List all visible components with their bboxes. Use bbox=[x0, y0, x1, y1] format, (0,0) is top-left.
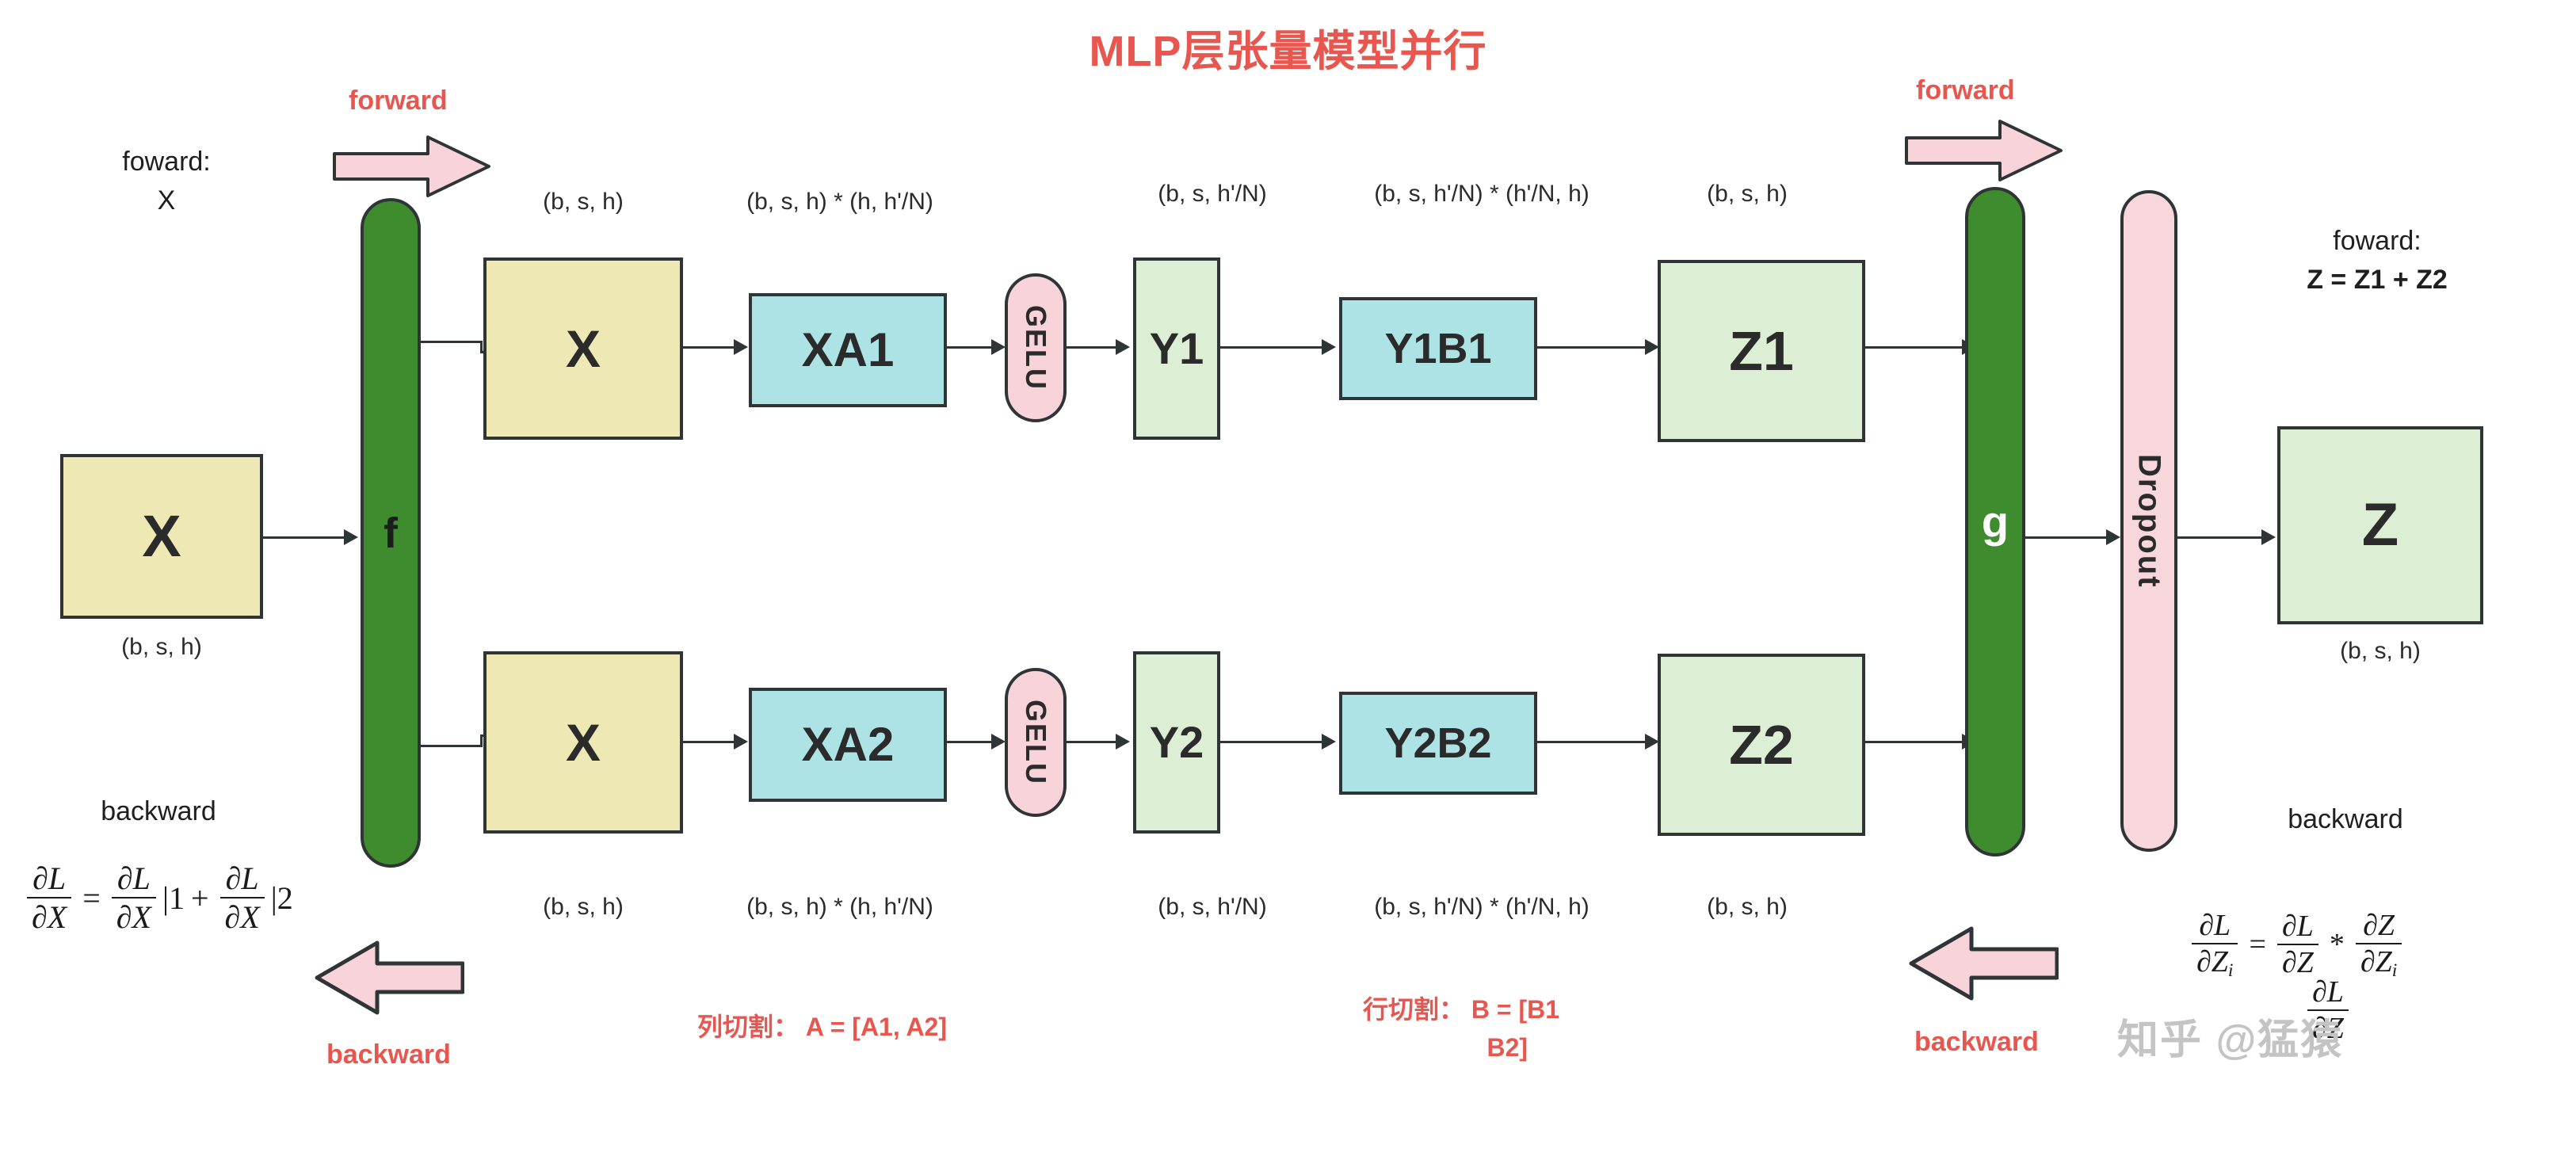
connector-topx-to-xa1 bbox=[683, 346, 737, 349]
f-column: f bbox=[361, 198, 421, 868]
bw-right-extra-num: ∂L bbox=[2307, 975, 2349, 1009]
bw-left-t2-den: ∂X bbox=[220, 897, 265, 936]
connector-y1-to-y1b1 bbox=[1220, 346, 1325, 349]
bw-right-star: * bbox=[2330, 927, 2345, 962]
connector-x-to-f bbox=[263, 536, 345, 539]
forward-note-left-line1: foward: bbox=[79, 143, 254, 181]
top-yb-box: Y1B1 bbox=[1339, 297, 1537, 400]
dim-label-bottom-0: (b, s, h) bbox=[480, 894, 686, 921]
input-x-box: X bbox=[60, 454, 263, 619]
bw-left-t1: ∂L ∂X bbox=[112, 860, 156, 936]
bottom-yb-box: Y2B2 bbox=[1339, 692, 1537, 795]
bw-left-eq: = bbox=[82, 879, 101, 917]
top-x-box: X bbox=[483, 258, 683, 440]
bw-right-t2-den-sub: i bbox=[2392, 960, 2398, 981]
backward-label-right: backward bbox=[2227, 800, 2464, 839]
bw-right-t2-den: ∂Zi bbox=[2356, 943, 2402, 982]
dim-label-top-3: (b, s, h'/N) * (h'/N, h) bbox=[1315, 181, 1648, 208]
bw-left-t1-num: ∂L bbox=[113, 860, 155, 897]
forward-note-left: foward: X bbox=[79, 143, 254, 221]
backward-formula-right: ∂L ∂Zi = ∂L ∂Z * ∂Z ∂Zi bbox=[2187, 908, 2406, 982]
bw-left-lhs-den: ∂X bbox=[27, 897, 71, 936]
bw-left-t1-den: ∂X bbox=[112, 897, 156, 936]
bw-left-t1-bar: |1 bbox=[162, 879, 185, 917]
connector-g-to-dropout-head bbox=[2106, 529, 2120, 545]
forward-note-left-line2: X bbox=[79, 181, 254, 220]
connector-y1-to-y1b1-head bbox=[1322, 339, 1336, 355]
forward-note-right-line2: Z = Z1 + Z2 bbox=[2219, 261, 2536, 299]
top-xa-box: XA1 bbox=[749, 293, 947, 407]
bw-right-lhs: ∂L ∂Zi bbox=[2192, 908, 2238, 982]
bottom-gelu-pill: GELU bbox=[1005, 668, 1067, 817]
top-gelu-pill: GELU bbox=[1005, 273, 1067, 422]
connector-gelu-to-y1 bbox=[1067, 346, 1119, 349]
connector-f-to-top-x bbox=[421, 341, 483, 343]
bw-right-lhs-den: ∂Zi bbox=[2192, 943, 2238, 982]
g-column: g bbox=[1965, 187, 2025, 857]
backward-block-arrow-right bbox=[1908, 925, 2059, 1001]
connector-gelu-to-y2 bbox=[1067, 741, 1119, 743]
dim-label-top-1: (b, s, h) * (h, h'/N) bbox=[689, 189, 990, 216]
bw-right-lhs-den-main: ∂Z bbox=[2196, 945, 2228, 979]
diagram-canvas: MLP层张量模型并行 forward foward: X X (b, s, h)… bbox=[0, 0, 2576, 1156]
bw-left-lhs: ∂L ∂X bbox=[27, 860, 71, 936]
dim-label-bottom-4: (b, s, h) bbox=[1644, 894, 1850, 921]
dropout-column-label: Dropout bbox=[2131, 454, 2167, 589]
connector-x-to-f-head bbox=[344, 529, 358, 545]
connector-botx-to-xa2 bbox=[683, 741, 737, 743]
dim-label-bottom-2: (b, s, h'/N) bbox=[1101, 894, 1323, 921]
forward-label-left: forward bbox=[349, 86, 448, 116]
backward-block-arrow-left bbox=[314, 940, 464, 1016]
bw-right-lhs-num: ∂L bbox=[2194, 908, 2235, 943]
top-y-box: Y1 bbox=[1133, 258, 1220, 440]
connector-y2-to-y2b2-head bbox=[1322, 734, 1336, 750]
bw-right-t1: ∂L ∂Z bbox=[2277, 909, 2318, 980]
output-z-box: Z bbox=[2277, 426, 2483, 624]
backward-label-left: backward bbox=[48, 792, 269, 831]
connector-gelu-to-y1-head bbox=[1116, 339, 1130, 355]
dropout-column: Dropout bbox=[2120, 190, 2177, 852]
connector-gelu-to-y2-head bbox=[1116, 734, 1130, 750]
page-title: MLP层张量模型并行 bbox=[0, 16, 2576, 78]
bw-left-lhs-num: ∂L bbox=[28, 860, 71, 897]
connector-y2-to-y2b2 bbox=[1220, 741, 1325, 743]
connector-dropout-to-z-head bbox=[2261, 529, 2276, 545]
bottom-xa-box: XA2 bbox=[749, 688, 947, 802]
connector-z1-to-g bbox=[1865, 346, 1965, 349]
dim-label-top-0: (b, s, h) bbox=[480, 189, 686, 216]
forward-label-right: forward bbox=[1916, 75, 2015, 106]
connector-xa1-to-gelu bbox=[947, 346, 994, 349]
backward-arrow-label-right: backward bbox=[1914, 1027, 2039, 1058]
forward-block-arrow-right bbox=[1905, 119, 2063, 182]
bottom-y-box: Y2 bbox=[1133, 651, 1220, 834]
note-row-split-line2: B2] bbox=[1363, 1028, 1559, 1066]
connector-z2-to-g bbox=[1865, 741, 1965, 743]
connector-botx-to-xa2-head bbox=[734, 734, 748, 750]
bw-right-t2-den-main: ∂Z bbox=[2360, 945, 2392, 979]
note-row-split-line1: 行切割： B = [B1 bbox=[1363, 990, 1559, 1028]
bw-right-t1-num: ∂L bbox=[2277, 909, 2318, 944]
bw-right-eq: = bbox=[2249, 927, 2265, 962]
connector-y2b2-to-z2 bbox=[1537, 741, 1648, 743]
connector-xa2-to-gelu-head bbox=[991, 734, 1006, 750]
connector-topx-to-xa1-head bbox=[734, 339, 748, 355]
forward-note-right: foward: Z = Z1 + Z2 bbox=[2219, 222, 2536, 300]
output-z-dim: (b, s, h) bbox=[2277, 638, 2483, 665]
bw-left-t2-num: ∂L bbox=[221, 860, 264, 897]
backward-formula-left: ∂L ∂X = ∂L ∂X |1 + ∂L ∂X |2 bbox=[22, 860, 293, 936]
connector-f-to-bottom-x bbox=[421, 745, 483, 747]
bw-left-t2: ∂L ∂X bbox=[220, 860, 265, 936]
forward-block-arrow-left bbox=[333, 135, 491, 198]
bottom-x-box: X bbox=[483, 651, 683, 834]
connector-xa1-to-gelu-head bbox=[991, 339, 1006, 355]
dim-label-top-2: (b, s, h'/N) bbox=[1101, 181, 1323, 208]
connector-f-to-top-x-drop bbox=[480, 341, 483, 352]
backward-arrow-label-left: backward bbox=[326, 1040, 451, 1070]
forward-note-right-line1: foward: bbox=[2219, 222, 2536, 261]
top-z-box: Z1 bbox=[1658, 260, 1865, 442]
top-gelu-label: GELU bbox=[1019, 305, 1052, 391]
bottom-z-box: Z2 bbox=[1658, 654, 1865, 836]
bw-left-t2-bar: |2 bbox=[271, 879, 293, 917]
note-row-split: 行切割： B = [B1 B2] bbox=[1363, 990, 1559, 1066]
dim-label-top-4: (b, s, h) bbox=[1644, 181, 1850, 208]
connector-g-to-dropout bbox=[2025, 536, 2109, 539]
f-column-label: f bbox=[384, 509, 398, 558]
note-col-split: 列切割： A = [A1, A2] bbox=[697, 1008, 947, 1046]
connector-xa2-to-gelu bbox=[947, 741, 994, 743]
watermark: 知乎 @猛猿 bbox=[2117, 1006, 2343, 1066]
bw-right-lhs-den-sub: i bbox=[2228, 960, 2234, 981]
g-column-label: g bbox=[1982, 496, 2009, 547]
input-x-dim: (b, s, h) bbox=[60, 634, 263, 661]
bw-left-plus: + bbox=[191, 879, 209, 917]
dim-label-bottom-3: (b, s, h'/N) * (h'/N, h) bbox=[1315, 894, 1648, 921]
bw-right-t2: ∂Z ∂Zi bbox=[2356, 908, 2402, 982]
connector-y1b1-to-z1 bbox=[1537, 346, 1648, 349]
bw-right-t2-num: ∂Z bbox=[2358, 908, 2399, 943]
dim-label-bottom-1: (b, s, h) * (h, h'/N) bbox=[689, 894, 990, 921]
connector-dropout-to-z bbox=[2177, 536, 2265, 539]
bottom-gelu-label: GELU bbox=[1019, 700, 1052, 785]
